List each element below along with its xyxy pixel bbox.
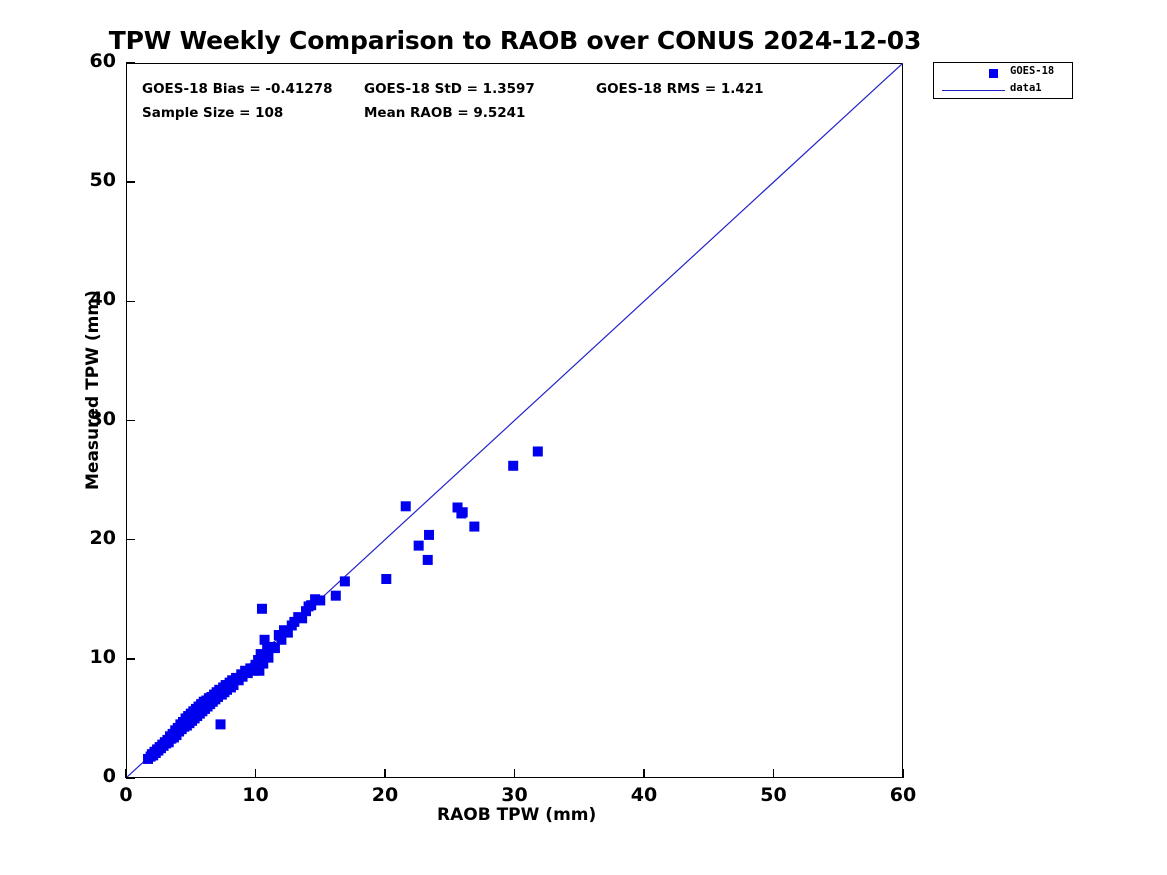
x-tick-label: 40 <box>624 784 664 806</box>
y-tick-mark <box>126 301 135 303</box>
y-tick-mark <box>126 181 135 183</box>
y-tick-mark <box>126 658 135 660</box>
legend-line-icon <box>942 90 1005 91</box>
legend-marker-square-icon <box>989 69 998 78</box>
x-axis-label: RAOB TPW (mm) <box>437 805 596 825</box>
data-point-marker <box>469 522 479 532</box>
x-tick-mark <box>773 769 775 778</box>
legend-entry-goes18[interactable]: GOES-18 <box>934 64 1072 82</box>
x-tick-mark <box>384 769 386 778</box>
y-tick-label: 60 <box>68 50 116 72</box>
y-tick-mark <box>126 777 135 779</box>
x-tick-label: 10 <box>236 784 276 806</box>
chart-title: TPW Weekly Comparison to RAOB over CONUS… <box>0 26 1030 55</box>
y-tick-mark <box>126 539 135 541</box>
x-tick-mark <box>643 769 645 778</box>
y-tick-mark <box>126 62 135 64</box>
y-tick-label: 10 <box>68 646 116 668</box>
y-axis-label: Measured TPW (mm) <box>83 290 103 490</box>
scatter-plot-area <box>126 63 903 778</box>
x-tick-mark <box>514 769 516 778</box>
data-point-marker <box>423 555 433 565</box>
data-point-marker <box>257 604 267 614</box>
data-point-marker <box>216 719 226 729</box>
data-point-marker <box>414 541 424 551</box>
x-tick-label: 0 <box>106 784 146 806</box>
x-tick-label: 20 <box>365 784 405 806</box>
y-tick-label: 0 <box>68 765 116 787</box>
data-points-group <box>143 446 543 763</box>
chart-legend[interactable]: GOES-18 data1 <box>933 62 1073 99</box>
x-tick-mark <box>902 769 904 778</box>
legend-label-data1: data1 <box>1010 82 1042 94</box>
x-tick-label: 30 <box>495 784 535 806</box>
x-tick-label: 50 <box>754 784 794 806</box>
data-point-marker <box>508 461 518 471</box>
x-tick-label: 60 <box>883 784 923 806</box>
legend-label-goes18: GOES-18 <box>1010 65 1054 77</box>
data-point-marker <box>340 576 350 586</box>
y-tick-mark <box>126 420 135 422</box>
data-point-marker <box>263 653 273 663</box>
data-point-marker <box>315 595 325 605</box>
data-point-marker <box>401 501 411 511</box>
data-point-marker <box>331 591 341 601</box>
data-point-marker <box>424 530 434 540</box>
data-point-marker <box>458 507 468 517</box>
figure-canvas: TPW Weekly Comparison to RAOB over CONUS… <box>0 0 1167 875</box>
legend-entry-data1[interactable]: data1 <box>934 81 1072 99</box>
y-tick-label: 20 <box>68 527 116 549</box>
data-point-marker <box>381 574 391 584</box>
x-tick-mark <box>255 769 257 778</box>
y-tick-label: 50 <box>68 169 116 191</box>
data-point-marker <box>533 446 543 456</box>
